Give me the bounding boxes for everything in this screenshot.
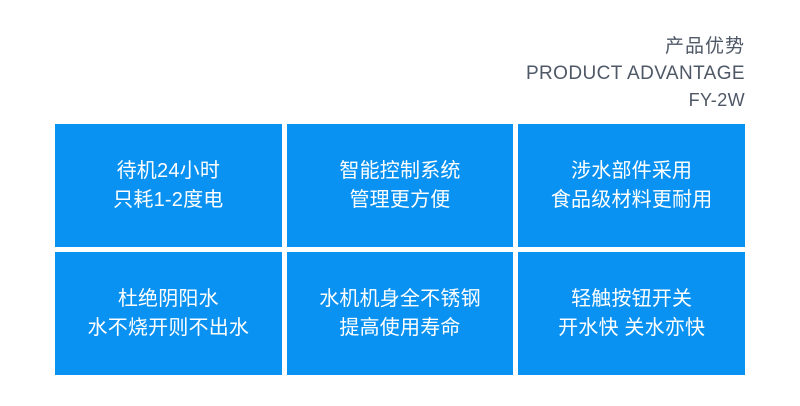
advantage-card: 水机机身全不锈钢 提高使用寿命 bbox=[287, 252, 514, 375]
advantage-card-line-1: 杜绝阴阳水 bbox=[118, 285, 219, 314]
page-title-en: PRODUCT ADVANTAGE bbox=[225, 60, 745, 87]
advantage-card-line-2: 只耗1-2度电 bbox=[113, 186, 223, 215]
advantage-card-line-2: 提高使用寿命 bbox=[339, 314, 460, 343]
advantage-grid: 待机24小时 只耗1-2度电 智能控制系统 管理更方便 涉水部件采用 食品级材料… bbox=[55, 124, 745, 375]
advantage-card-line-1: 智能控制系统 bbox=[339, 157, 460, 186]
advantage-card-line-1: 水机机身全不锈钢 bbox=[319, 285, 481, 314]
advantage-card: 智能控制系统 管理更方便 bbox=[287, 124, 514, 247]
page-title-cn: 产品优势 bbox=[225, 34, 745, 60]
advantage-card-line-2: 食品级材料更耐用 bbox=[551, 186, 713, 215]
advantage-card-line-2: 水不烧开则不出水 bbox=[88, 314, 250, 343]
header-block: 产品优势 PRODUCT ADVANTAGE FY-2W bbox=[225, 34, 745, 113]
advantage-card: 杜绝阴阳水 水不烧开则不出水 bbox=[55, 252, 282, 375]
advantage-card-line-2: 管理更方便 bbox=[349, 186, 450, 215]
advantage-card: 待机24小时 只耗1-2度电 bbox=[55, 124, 282, 247]
advantage-card-line-1: 轻触按钮开关 bbox=[571, 285, 692, 314]
advantage-card-line-1: 涉水部件采用 bbox=[571, 157, 692, 186]
advantage-card-line-1: 待机24小时 bbox=[117, 157, 220, 186]
advantage-card: 轻触按钮开关 开水快 关水亦快 bbox=[518, 252, 745, 375]
product-advantage-page: 产品优势 PRODUCT ADVANTAGE FY-2W 待机24小时 只耗1-… bbox=[0, 0, 800, 406]
product-model-label: FY-2W bbox=[225, 87, 745, 113]
advantage-card-line-2: 开水快 关水亦快 bbox=[558, 314, 705, 343]
advantage-card: 涉水部件采用 食品级材料更耐用 bbox=[518, 124, 745, 247]
